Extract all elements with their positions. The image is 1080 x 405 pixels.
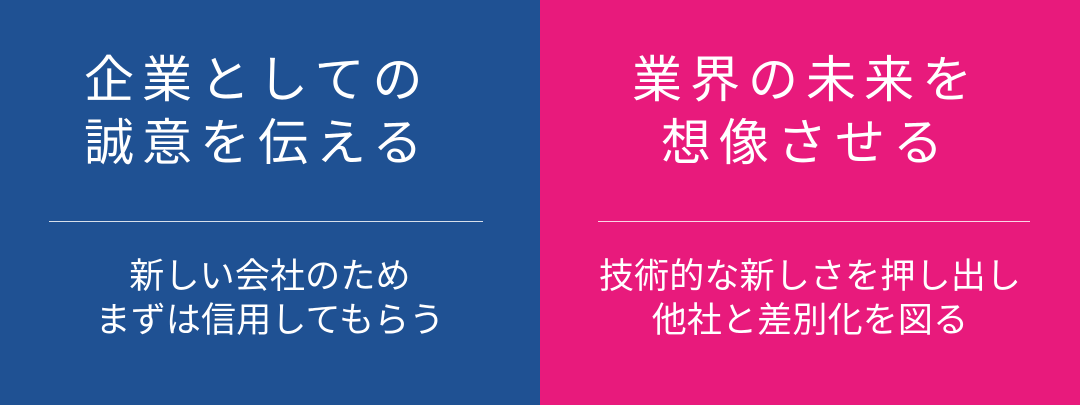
panel-corporate-sincerity: 企業としての 誠意を伝える 新しい会社のため まずは信用してもらう	[0, 0, 540, 405]
panel-divider	[598, 221, 1030, 222]
panel-headline: 業界の未来を 想像させる	[540, 49, 1080, 175]
panel-headline: 企業としての 誠意を伝える	[84, 49, 431, 175]
panel-subtitle: 新しい会社のため まずは信用してもらう	[0, 255, 540, 343]
panel-subtitle: 技術的な新しさを押し出し 他社と差別化を図る	[540, 255, 1080, 343]
panel-industry-future: 業界の未来を 想像させる 技術的な新しさを押し出し 他社と差別化を図る	[540, 0, 1080, 405]
panel-divider	[49, 221, 483, 222]
two-panel-banner: 企業としての 誠意を伝える 新しい会社のため まずは信用してもらう 業界の未来を…	[0, 0, 1080, 405]
